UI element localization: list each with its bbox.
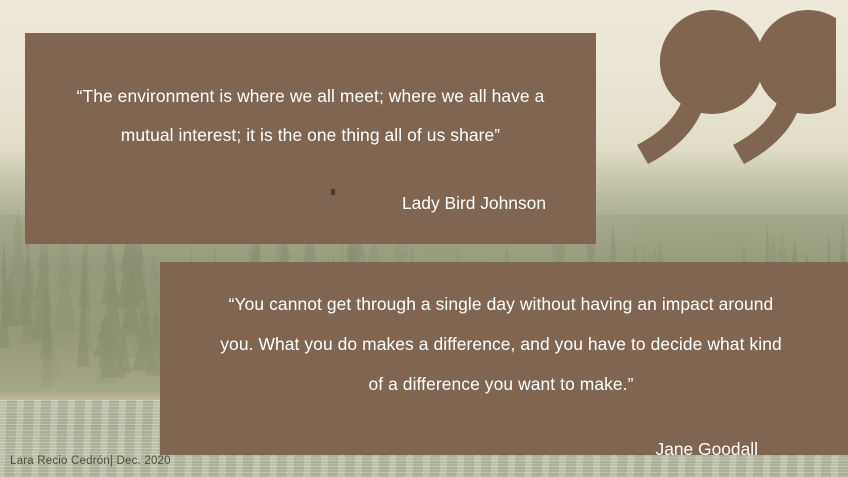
author-credit: Lara Recio Cedrón| Dec. 2020 bbox=[10, 455, 171, 467]
quote-author: Lady Bird Johnson bbox=[51, 191, 570, 215]
stray-dot-artifact bbox=[331, 189, 335, 195]
quote-line: “The environment is where we all meet; w… bbox=[51, 77, 570, 116]
quote-line: you. What you do makes a difference, and… bbox=[184, 324, 818, 364]
quote-panel-jane-goodall: “You cannot get through a single day wit… bbox=[160, 262, 848, 455]
quote-line: mutual interest; it is the one thing all… bbox=[51, 116, 570, 155]
quotation-mark-icon bbox=[612, 0, 836, 175]
slide-canvas: “The environment is where we all meet; w… bbox=[0, 0, 848, 477]
quote-line: of a difference you want to make.” bbox=[184, 364, 818, 404]
quote-panel-lady-bird-johnson: “The environment is where we all meet; w… bbox=[25, 33, 596, 244]
quote-author: Jane Goodall bbox=[184, 437, 818, 461]
quote-line: “You cannot get through a single day wit… bbox=[184, 284, 818, 324]
